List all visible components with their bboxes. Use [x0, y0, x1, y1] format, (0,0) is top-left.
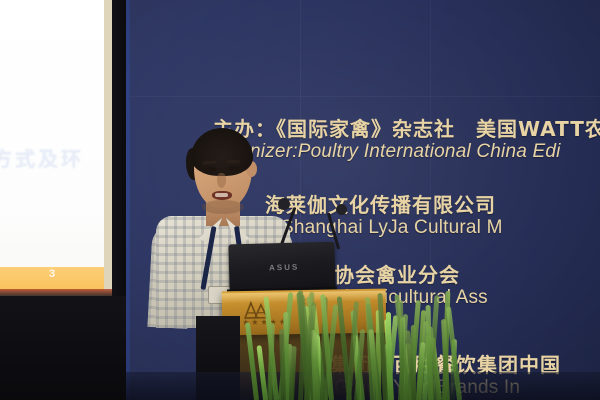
- microphone-head-right: [336, 204, 347, 215]
- microphone-head-left: [278, 198, 290, 210]
- screen-stand-base: [0, 296, 126, 400]
- conference-photo: 方式及环 3 主办：《国际家禽》杂志社 美国WATT农 Organizer:Po…: [0, 0, 600, 400]
- screen-bottom-edge: [0, 289, 112, 296]
- speaker-eye-right: [228, 166, 240, 171]
- laptop-brand-label: ASUS: [269, 262, 305, 272]
- slide-page-number: 3: [0, 268, 104, 280]
- laptop-lid: ASUS: [228, 242, 335, 292]
- projection-screen-surface: 方式及环 3: [0, 0, 104, 290]
- decorative-grass-plants: [252, 288, 467, 400]
- speaker-hair: [191, 128, 253, 176]
- projection-screen-frame: 方式及环 3: [0, 0, 126, 400]
- speaker-chin-shadow: [202, 200, 244, 214]
- speaker-nose: [217, 173, 226, 188]
- slide-body-text: 方式及环: [0, 143, 88, 172]
- speaker-teeth: [215, 193, 228, 197]
- speaker-eye-left: [205, 167, 217, 172]
